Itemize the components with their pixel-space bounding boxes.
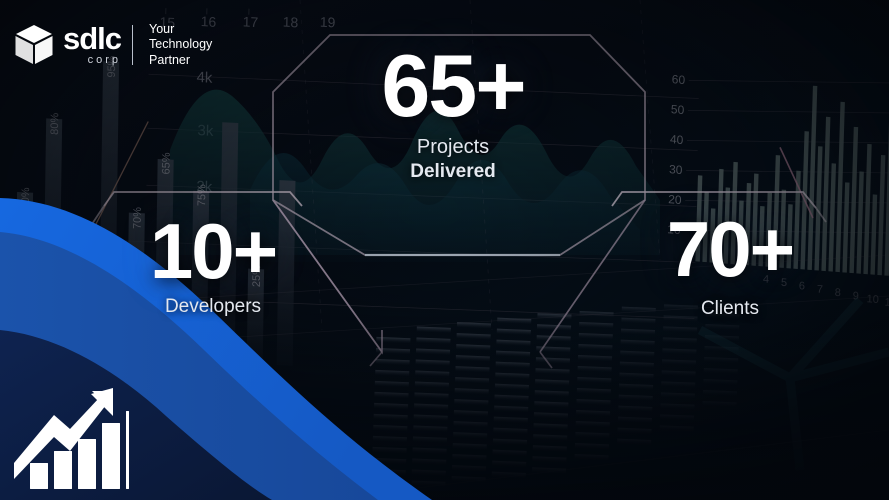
- tagline-line-3: Partner: [149, 53, 212, 68]
- brand-wordmark: sdlc corp: [63, 23, 121, 66]
- logo-divider: [132, 25, 133, 65]
- svg-text:30: 30: [669, 162, 683, 177]
- tagline-line-1: Your: [149, 22, 212, 37]
- svg-text:80%: 80%: [49, 112, 61, 135]
- brand-sub: corp: [63, 55, 121, 66]
- svg-text:10: 10: [866, 293, 879, 306]
- brand-name: sdlc: [63, 23, 121, 54]
- stat-projects-delivered: 65+ Projects Delivered: [328, 44, 578, 184]
- brand-logo[interactable]: sdlc corp Your Technology Partner: [14, 22, 212, 68]
- stat-clients-label: Clients: [625, 298, 835, 320]
- svg-text:40: 40: [670, 132, 684, 147]
- svg-text:75%: 75%: [196, 184, 208, 207]
- stat-developers-value: 10+: [98, 214, 328, 288]
- svg-text:11: 11: [884, 297, 889, 310]
- stat-projects-value: 65+: [328, 44, 578, 128]
- svg-text:60%: 60%: [75, 244, 87, 267]
- stat-clients: 70+ Clients: [625, 212, 835, 321]
- growth-chart-icon: [14, 385, 129, 490]
- svg-text:65%: 65%: [160, 152, 172, 175]
- svg-text:50: 50: [671, 102, 685, 117]
- tagline-line-2: Technology: [149, 37, 212, 52]
- stat-developers: 10+ Developers: [98, 214, 328, 319]
- stat-projects-label: Projects Delivered: [328, 136, 578, 184]
- svg-text:4k: 4k: [196, 69, 213, 87]
- svg-text:18: 18: [283, 14, 299, 31]
- svg-text:19: 19: [320, 14, 336, 31]
- infographic-canvas: 4k 3k 2k 15 16 17 18 19: [0, 0, 889, 500]
- svg-text:50%: 50%: [20, 187, 32, 210]
- cube-icon: [14, 24, 54, 66]
- svg-text:8: 8: [835, 287, 841, 299]
- stat-projects-label-line2: Delivered: [328, 161, 578, 183]
- svg-text:17: 17: [243, 13, 259, 30]
- brand-tagline: Your Technology Partner: [149, 22, 212, 68]
- stat-projects-label-line1: Projects: [417, 136, 489, 158]
- stat-developers-label: Developers: [98, 296, 328, 318]
- stat-clients-value: 70+: [625, 212, 835, 286]
- svg-text:60: 60: [672, 72, 686, 87]
